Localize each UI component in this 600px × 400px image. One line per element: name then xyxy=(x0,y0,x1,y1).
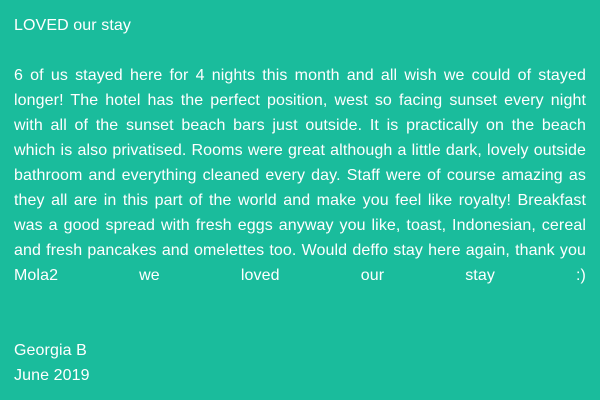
review-signature: Georgia B June 2019 xyxy=(14,338,586,388)
review-author-name: Georgia B xyxy=(14,338,586,363)
body-signature-spacer xyxy=(14,313,586,338)
review-date: June 2019 xyxy=(14,363,586,388)
review-card: LOVED our stay 6 of us stayed here for 4… xyxy=(0,0,600,400)
title-body-spacer xyxy=(14,38,586,63)
review-title: LOVED our stay xyxy=(14,13,586,38)
review-body-text: 6 of us stayed here for 4 nights this mo… xyxy=(14,63,586,313)
